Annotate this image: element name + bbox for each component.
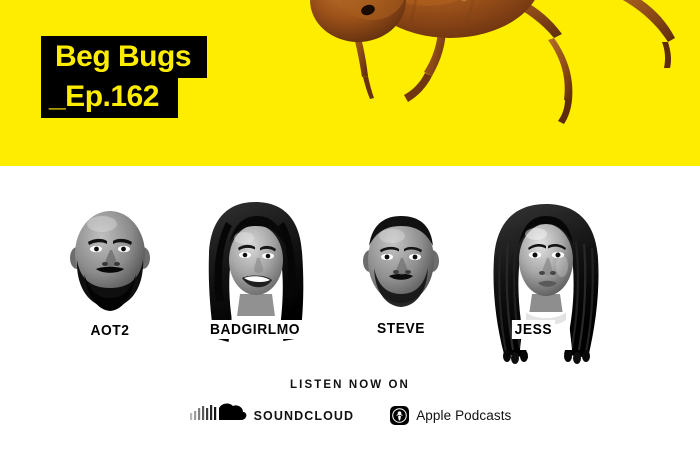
host-aot2[interactable]: AOT2 [58,200,162,323]
apple-podcasts-icon [390,406,409,425]
host-name-badgirlmo: BADGIRLMO [198,320,312,339]
platform-links: SOUNDCLOUD Apple Podcasts [0,402,700,429]
avatar-aot2 [58,200,162,323]
host-name-steve: STEVE [356,320,446,337]
episode-number: _Ep.162 [41,78,178,118]
apple-podcasts-link[interactable]: Apple Podcasts [390,406,511,425]
podcast-episode-poster: Beg Bugs _Ep.162 [0,0,700,467]
apple-podcasts-label: Apple Podcasts [416,408,511,423]
bed-bug-photo [250,0,700,166]
host-jess[interactable]: JESS [478,198,614,373]
soundcloud-link[interactable]: SOUNDCLOUD [189,402,355,429]
hosts-row: AOT2 [0,196,700,391]
soundcloud-icon [189,402,247,429]
avatar-jess [478,198,614,373]
show-title: Beg Bugs [41,36,207,78]
avatar-steve [352,206,450,323]
hero-banner: Beg Bugs _Ep.162 [0,0,700,166]
soundcloud-label: SOUNDCLOUD [254,409,355,423]
host-name-jess: JESS [512,320,555,339]
host-badgirlmo[interactable]: BADGIRLMO [196,198,314,353]
host-steve[interactable]: STEVE [352,206,450,323]
listen-now-label: LISTEN NOW ON [0,379,700,391]
episode-title-block: Beg Bugs _Ep.162 [41,36,207,118]
host-name-aot2: AOT2 [62,322,158,339]
